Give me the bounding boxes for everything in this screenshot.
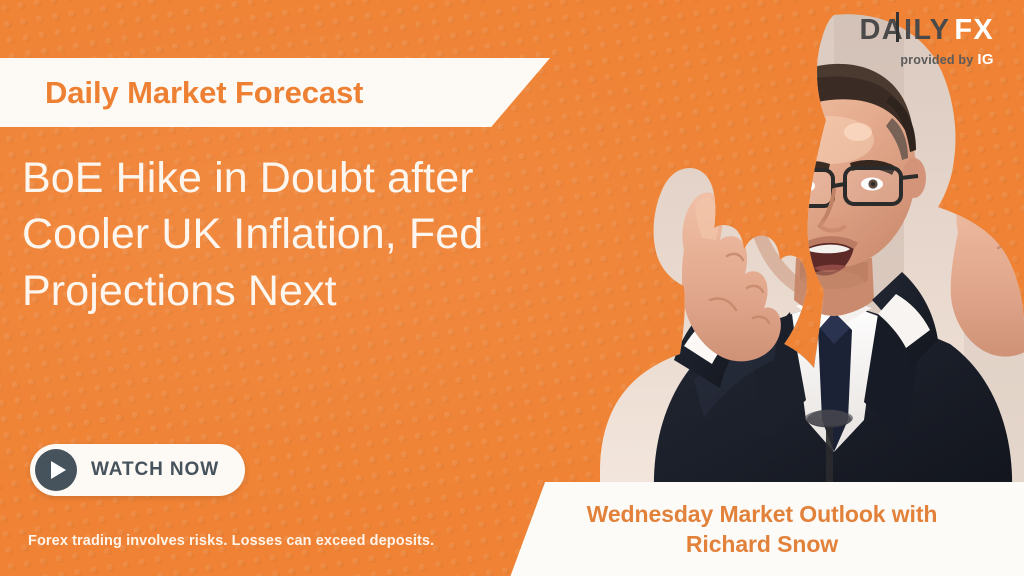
banner-label: Daily Market Forecast	[45, 75, 363, 111]
logo-tick-mark	[896, 12, 899, 42]
dailyfx-logo: DAILY FX provided byIG	[859, 16, 994, 67]
play-triangle	[51, 461, 66, 479]
caption-line-1: Wednesday Market Outlook with	[587, 499, 938, 529]
caption-line-2: Richard Snow	[686, 529, 838, 559]
logo-daily-text: DAILY	[859, 16, 950, 45]
logo-fx-label: FX	[954, 16, 994, 45]
play-icon[interactable]	[35, 449, 77, 491]
video-thumbnail: DAILY FX provided byIG Daily Market Fore…	[0, 0, 1024, 576]
logo-subline: provided byIG	[859, 52, 994, 67]
headline-text: BoE Hike in Doubt after Cooler UK Inflat…	[22, 150, 567, 319]
risk-disclaimer: Forex trading involves risks. Losses can…	[28, 533, 434, 549]
logo-ig-label: IG	[977, 51, 994, 68]
daily-market-forecast-banner: Daily Market Forecast	[0, 58, 550, 127]
presenter-photo	[534, 0, 1024, 492]
watch-now-button[interactable]: WATCH NOW	[30, 444, 245, 496]
logo-provided-by-label: provided by	[900, 53, 973, 67]
episode-caption-bar: Wednesday Market Outlook with Richard Sn…	[500, 482, 1024, 576]
logo-wordmark: DAILY FX	[859, 16, 994, 45]
watch-now-label: WATCH NOW	[91, 459, 219, 481]
logo-daily-label: DAILY	[859, 14, 950, 46]
